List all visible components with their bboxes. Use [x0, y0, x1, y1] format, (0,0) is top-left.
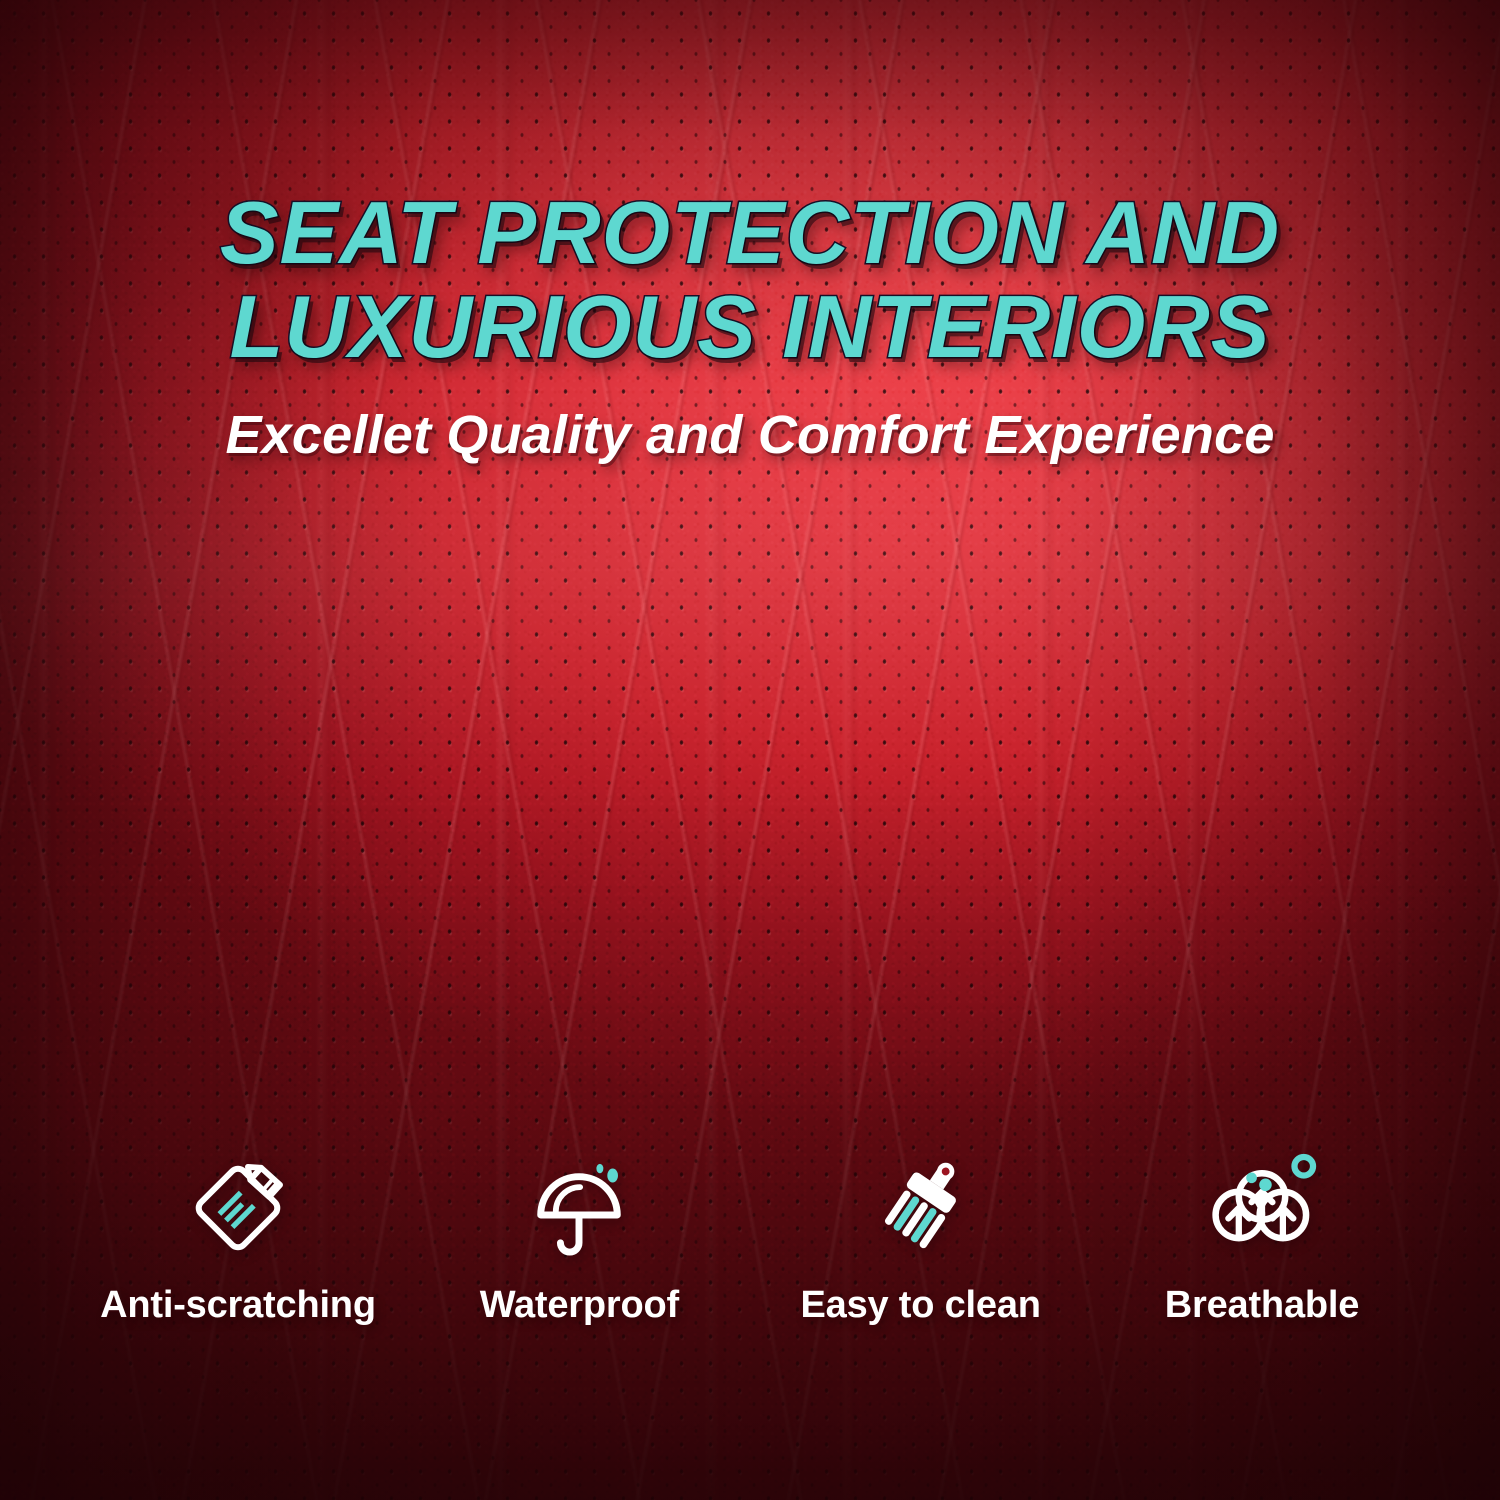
- feature-label-anti-scratching: Anti-scratching: [100, 1284, 376, 1327]
- feature-item-anti-scratching: Anti-scratching: [78, 1148, 398, 1327]
- breathable-cloud-icon: [1204, 1148, 1320, 1268]
- feature-item-breathable: Breathable: [1102, 1148, 1422, 1327]
- banner-headline: SEAT PROTECTION AND LUXURIOUS INTERIORS: [0, 186, 1500, 374]
- headline-line-1: SEAT PROTECTION AND: [220, 183, 1280, 282]
- product-banner: SEAT PROTECTION AND LUXURIOUS INTERIORS …: [0, 0, 1500, 1500]
- feature-label-breathable: Breathable: [1165, 1284, 1359, 1327]
- headline-line-2: LUXURIOUS INTERIORS: [0, 280, 1500, 374]
- feature-label-easy-to-clean: Easy to clean: [801, 1284, 1041, 1327]
- banner-subheadline: Excellet Quality and Comfort Experience: [0, 404, 1500, 466]
- feature-list: Anti-scratching Waterproof: [78, 1148, 1422, 1327]
- umbrella-icon: [521, 1148, 637, 1268]
- feature-item-easy-to-clean: Easy to clean: [761, 1148, 1081, 1327]
- feature-item-waterproof: Waterproof: [419, 1148, 739, 1327]
- feature-label-waterproof: Waterproof: [480, 1284, 679, 1327]
- scratch-shield-icon: [180, 1148, 296, 1268]
- brush-icon: [863, 1148, 979, 1268]
